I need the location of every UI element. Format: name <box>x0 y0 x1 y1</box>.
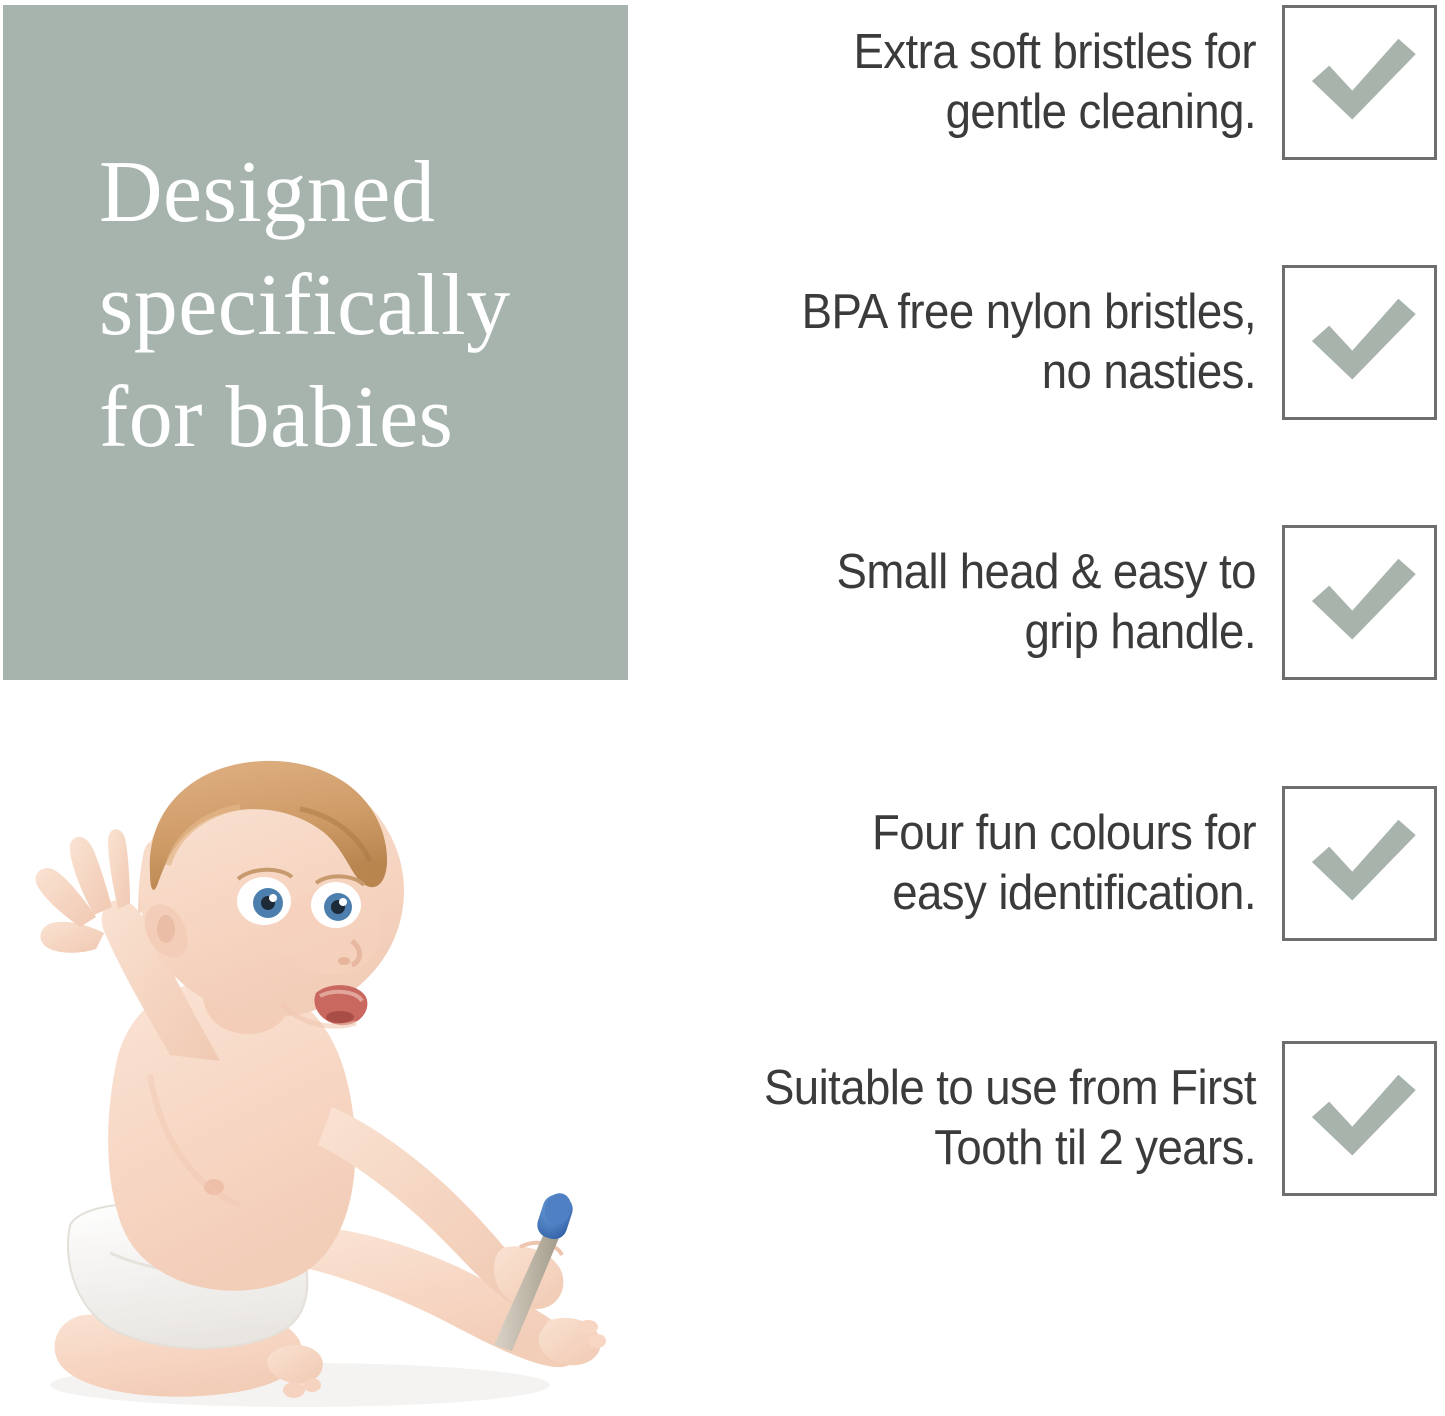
check-icon <box>1285 1044 1434 1193</box>
checkbox-age-range[interactable] <box>1282 1041 1437 1196</box>
checkbox-bpa-free[interactable] <box>1282 265 1437 420</box>
check-icon <box>1285 528 1434 677</box>
check-icon <box>1285 8 1434 157</box>
check-icon <box>1285 789 1434 938</box>
hero-panel: Designed specifically for babies <box>3 5 628 680</box>
feature-label: BPA free nylon bristles, no nasties. <box>724 282 1282 403</box>
feature-row-age-range: Suitable to use from First Tooth til 2 y… <box>620 1033 1445 1203</box>
feature-row-soft-bristles: Extra soft bristles for gentle cleaning. <box>620 0 1445 167</box>
baby-photo-illustration <box>0 755 640 1416</box>
page-title: Designed specifically for babies <box>99 137 619 475</box>
checkbox-soft-bristles[interactable] <box>1282 5 1437 160</box>
feature-label: Small head & easy to grip handle. <box>724 542 1282 663</box>
feature-checklist: Extra soft bristles for gentle cleaning.… <box>620 0 1445 1416</box>
feature-label: Four fun colours for easy identification… <box>724 803 1282 924</box>
feature-row-small-head: Small head & easy to grip handle. <box>620 517 1445 687</box>
feature-label: Extra soft bristles for gentle cleaning. <box>724 22 1282 143</box>
product-lifestyle-photo <box>0 755 640 1416</box>
checkbox-four-colours[interactable] <box>1282 786 1437 941</box>
feature-row-bpa-free: BPA free nylon bristles, no nasties. <box>620 257 1445 427</box>
checkbox-small-head[interactable] <box>1282 525 1437 680</box>
product-feature-infographic: Designed specifically for babies <box>0 0 1445 1416</box>
check-icon <box>1285 268 1434 417</box>
feature-row-four-colours: Four fun colours for easy identification… <box>620 778 1445 948</box>
feature-label: Suitable to use from First Tooth til 2 y… <box>724 1058 1282 1179</box>
